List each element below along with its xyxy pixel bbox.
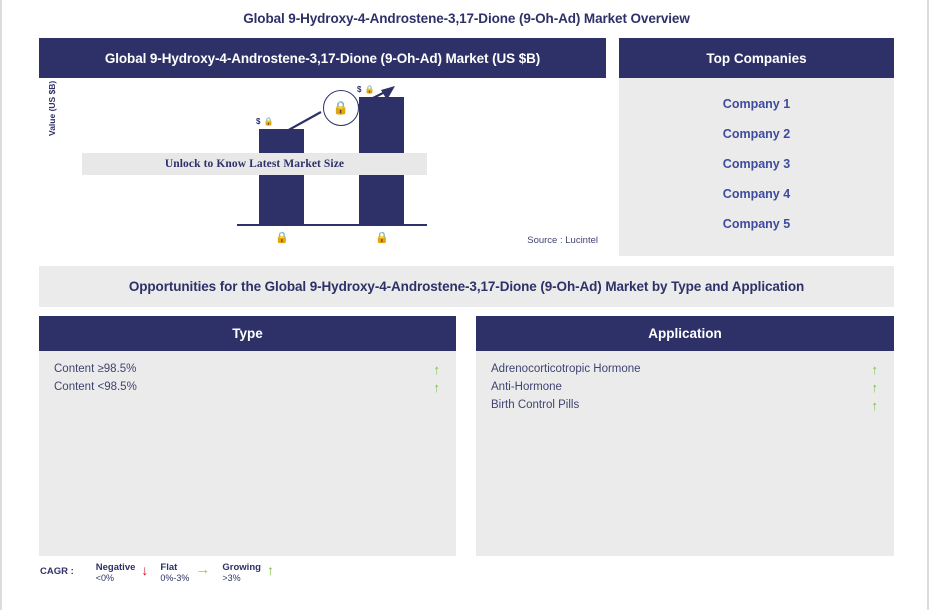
trend-up-icon: ↑ — [872, 399, 879, 412]
type-row-label: Content <98.5% — [54, 381, 434, 393]
market-chart-card: Global 9-Hydroxy-4-Androstene-3,17-Dione… — [39, 38, 606, 256]
type-panel: Type Content ≥98.5% ↑ Content <98.5% ↑ — [39, 316, 456, 556]
bar-1-lock-icon: 🔒 — [264, 117, 274, 126]
cagr-flat-range: 0%-3% — [160, 573, 189, 584]
list-item[interactable]: Company 2 — [619, 119, 894, 149]
type-panel-body: Content ≥98.5% ↑ Content <98.5% ↑ — [39, 351, 456, 556]
cagr-flat-text: Flat 0%-3% — [160, 562, 189, 584]
market-chart-body: Value (US $B) $ 🔒 $ 🔒 🔒 🔒 🔒 Unlock — [39, 78, 606, 256]
page-title: Global 9-Hydroxy-4-Androstene-3,17-Dione… — [2, 11, 929, 26]
chart-source-label: Source : Lucintel — [527, 235, 598, 246]
trend-up-icon: ↑ — [872, 363, 879, 376]
top-companies-header: Top Companies — [619, 38, 894, 78]
chart-y-axis-label: Value (US $B) — [47, 81, 57, 136]
chart-x-tick-2-lock-icon: 🔒 — [375, 231, 389, 244]
bar-1-currency: $ — [256, 117, 261, 126]
market-chart-header: Global 9-Hydroxy-4-Androstene-3,17-Dione… — [39, 38, 606, 78]
trend-up-icon: ↑ — [872, 381, 879, 394]
cagr-flat-label: Flat — [160, 562, 189, 573]
opportunities-banner: Opportunities for the Global 9-Hydroxy-4… — [39, 266, 894, 307]
trend-up-icon: ↑ — [267, 563, 274, 577]
cagr-legend: CAGR : Negative <0% ↓ Flat 0%-3% → Growi… — [40, 562, 286, 592]
trend-up-icon: ↑ — [434, 381, 441, 394]
table-row[interactable]: Birth Control Pills ↑ — [476, 396, 894, 414]
cagr-legend-entry-flat: Flat 0%-3% → — [160, 562, 210, 584]
top-companies-list: Company 1 Company 2 Company 3 Company 4 … — [619, 78, 894, 256]
application-panel-header: Application — [476, 316, 894, 351]
chart-lock-badge-icon[interactable]: 🔒 — [323, 90, 359, 126]
application-row-label: Adrenocorticotropic Hormone — [491, 363, 872, 375]
list-item[interactable]: Company 3 — [619, 149, 894, 179]
type-row-label: Content ≥98.5% — [54, 363, 434, 375]
list-item[interactable]: Company 1 — [619, 89, 894, 119]
cagr-growing-label: Growing — [222, 562, 261, 573]
table-row[interactable]: Content <98.5% ↑ — [39, 378, 456, 396]
cagr-legend-title: CAGR : — [40, 566, 74, 577]
cagr-growing-text: Growing >3% — [222, 562, 261, 584]
chart-bar-1-value-label: $ 🔒 — [256, 117, 274, 126]
cagr-negative-text: Negative <0% — [96, 562, 136, 584]
cagr-legend-entry-negative: Negative <0% ↓ — [96, 562, 149, 584]
table-row[interactable]: Adrenocorticotropic Hormone ↑ — [476, 360, 894, 378]
list-item[interactable]: Company 5 — [619, 209, 894, 239]
list-item[interactable]: Company 4 — [619, 179, 894, 209]
application-panel-body: Adrenocorticotropic Hormone ↑ Anti-Hormo… — [476, 351, 894, 556]
table-row[interactable]: Content ≥98.5% ↑ — [39, 360, 456, 378]
cagr-negative-range: <0% — [96, 573, 136, 584]
application-row-label: Birth Control Pills — [491, 399, 872, 411]
cagr-growing-range: >3% — [222, 573, 261, 584]
table-row[interactable]: Anti-Hormone ↑ — [476, 378, 894, 396]
cagr-legend-entry-growing: Growing >3% ↑ — [222, 562, 274, 584]
unlock-market-size-banner[interactable]: Unlock to Know Latest Market Size — [82, 153, 427, 175]
application-row-label: Anti-Hormone — [491, 381, 872, 393]
type-panel-header: Type — [39, 316, 456, 351]
trend-down-icon: ↓ — [141, 563, 148, 577]
cagr-negative-label: Negative — [96, 562, 136, 573]
chart-x-axis-line — [237, 224, 427, 226]
top-companies-card: Top Companies Company 1 Company 2 Compan… — [619, 38, 894, 256]
trend-flat-icon: → — [195, 563, 210, 577]
trend-up-icon: ↑ — [434, 363, 441, 376]
chart-x-tick-1-lock-icon: 🔒 — [275, 231, 289, 244]
application-panel: Application Adrenocorticotropic Hormone … — [476, 316, 894, 556]
